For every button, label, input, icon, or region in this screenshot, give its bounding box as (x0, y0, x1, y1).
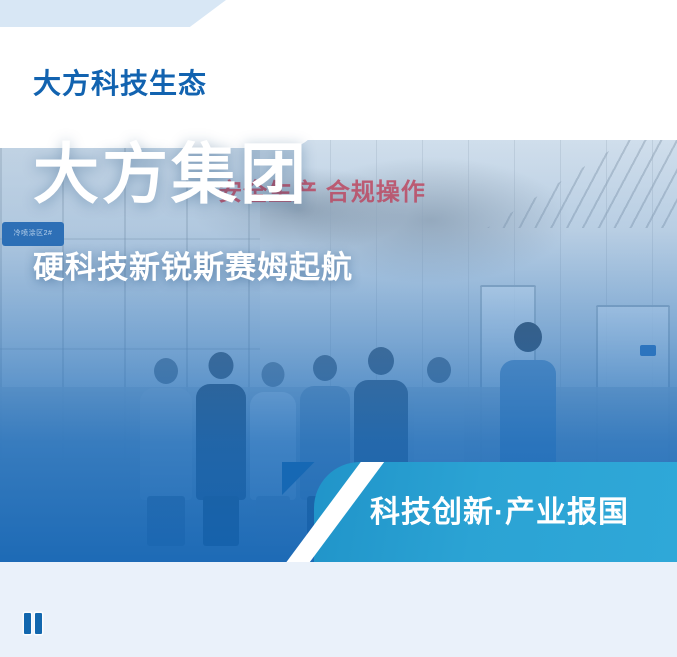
slogan-text: 科技创新·产业报国 (370, 498, 629, 528)
footer-area (0, 562, 677, 657)
quote-mark-icon (24, 613, 42, 634)
quote-mark-bar-left (24, 613, 31, 634)
slide-canvas: 大方科技生态 冷喷涂区2# 安全生产 合规操作 (0, 0, 677, 657)
hero-subheadline: 硬科技新锐斯赛姆起航 (33, 252, 353, 283)
hero-headline: 大方集团 (33, 141, 309, 207)
quote-mark-bar-right (35, 613, 42, 634)
corner-accent-tab (0, 0, 226, 27)
page-title: 大方科技生态 (33, 70, 207, 98)
slogan-banner: 科技创新·产业报国 (282, 462, 677, 562)
